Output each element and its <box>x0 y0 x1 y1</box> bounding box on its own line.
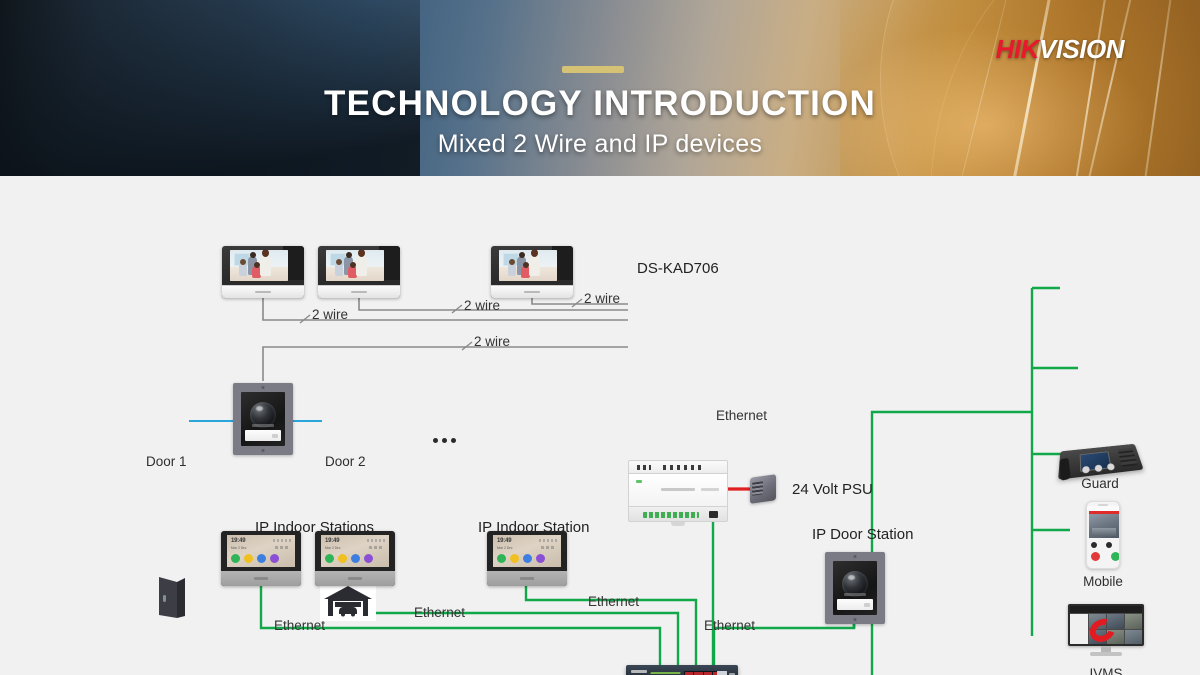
app-icon-monitor <box>257 554 266 563</box>
psu-connector-icon <box>750 476 776 502</box>
slide-header: HIKVISION TECHNOLOGY INTRODUCTION Mixed … <box>0 0 1200 176</box>
kad706-terminal-group-a <box>637 465 651 470</box>
ethernet-label: Ethernet <box>588 594 639 609</box>
ethernet-label: Ethernet <box>414 605 465 620</box>
guard-station-body <box>1058 444 1144 480</box>
ipstation-screen: 19:49 Mon 2 Dec <box>227 535 295 567</box>
wire-label-2wire: 2 wire <box>474 334 510 349</box>
two-wire-door-station[interactable] <box>233 383 293 455</box>
monitor-base <box>222 285 304 298</box>
leader-tick <box>572 299 582 307</box>
guard-button <box>1082 466 1090 474</box>
guard-keypad <box>1118 448 1138 467</box>
logo-vision-text: VISION <box>1039 34 1124 64</box>
leader-tick <box>452 305 462 313</box>
title-accent-bar <box>562 66 624 73</box>
ipstation-clock-sub: Mon 2 Dec <box>325 546 340 550</box>
app-icon-unlock <box>510 554 519 563</box>
hikvision-logo: HIKVISION <box>996 34 1124 65</box>
screen-person-mom <box>356 254 367 276</box>
monitor-body <box>318 246 400 298</box>
door-open-icon <box>155 574 189 620</box>
mobile-hangup-icon <box>1091 552 1100 561</box>
ipstation-menu-dots <box>541 546 555 549</box>
app-icon-monitor <box>523 554 532 563</box>
ds-kad706-module[interactable] <box>628 460 728 522</box>
ipstation-base <box>487 571 567 586</box>
garage-svg <box>322 583 374 619</box>
network-switch[interactable] <box>626 665 738 675</box>
kad706-green-terminals <box>643 512 699 518</box>
garage-icon <box>320 581 376 621</box>
mobile-call-buttons <box>1091 552 1120 561</box>
mobile-video-preview <box>1089 514 1119 538</box>
ip-door-station[interactable] <box>825 552 885 624</box>
screen-person-boy <box>239 263 247 276</box>
door-station-brand <box>844 593 866 596</box>
ellipsis-icon <box>433 438 456 443</box>
app-icon-settings <box>270 554 279 563</box>
monitor-screen <box>230 250 288 281</box>
ethernet-switch-to-trunk <box>738 412 1032 675</box>
ivms-video-cell <box>1125 630 1142 645</box>
ipstation-status-dots <box>273 539 291 542</box>
screen-person-boy <box>508 263 516 276</box>
ellipsis-dot <box>451 438 456 443</box>
diagram-canvas: 2 wire 2 wire 2 wire 2 wire DS-KAD706 <box>0 176 1200 675</box>
ipstation-body: 19:49 Mon 2 Dec <box>221 531 301 586</box>
psu-terminal-slots <box>752 481 763 496</box>
door1-label: Door 1 <box>146 454 187 469</box>
switch-uplink-port <box>717 671 727 675</box>
monitor-body <box>491 246 573 298</box>
app-icon-call <box>497 554 506 563</box>
ipstation-app-row <box>497 554 545 563</box>
app-icon-call <box>325 554 334 563</box>
switch-brand <box>631 670 647 673</box>
kad706-face <box>628 474 728 506</box>
ipstation-status-dots <box>539 539 557 542</box>
logo-hik-text: HIK <box>996 34 1039 64</box>
door-station-face <box>241 392 285 446</box>
app-icon-unlock <box>244 554 253 563</box>
wire-label-2wire: 2 wire <box>464 298 500 313</box>
screen-person-mom <box>529 254 540 276</box>
door-station-frame <box>233 383 293 455</box>
kad706-rj45-port <box>709 511 718 518</box>
wire-label-2wire: 2 wire <box>584 291 620 306</box>
ipstation-clock: 19:49 <box>231 538 245 544</box>
guard-station[interactable] <box>1058 431 1142 475</box>
ivms-device-tree <box>1070 614 1088 644</box>
ethernet-label: Ethernet <box>274 618 325 633</box>
kad706-status-led <box>636 480 642 483</box>
monitor-screen <box>499 250 557 281</box>
door-station-screw-bottom <box>262 449 265 452</box>
ipstation-app-row <box>325 554 373 563</box>
ellipsis-dot <box>433 438 438 443</box>
monitor-base <box>318 285 400 298</box>
kad706-top-shell <box>628 460 728 474</box>
ipstation-screen: 19:49 Mon 2 Dec <box>321 535 389 567</box>
kad706-bottom-shell <box>628 506 728 522</box>
ivms-workstation[interactable] <box>1068 604 1144 656</box>
door-station-face <box>833 561 877 615</box>
leader-tick <box>300 315 310 323</box>
ipstation-status-dots <box>367 539 385 542</box>
switch-body <box>626 665 738 675</box>
guard-label: Guard <box>1060 476 1140 491</box>
ipstation-menu-dots <box>275 546 289 549</box>
monitor-body <box>222 246 304 298</box>
two-wire-indoor-monitor[interactable] <box>491 246 573 298</box>
page-title: TECHNOLOGY INTRODUCTION <box>0 84 1200 124</box>
ethernet-label: Ethernet <box>704 618 755 633</box>
app-icon-call <box>231 554 240 563</box>
slide-root: HIKVISION TECHNOLOGY INTRODUCTION Mixed … <box>0 0 1200 675</box>
switch-uplink-ports <box>717 671 727 675</box>
ip-door-station-label: IP Door Station <box>812 526 913 543</box>
ip-indoor-station[interactable]: 19:49 Mon 2 Dec <box>221 531 301 586</box>
ipstation-screen: 19:49 Mon 2 Dec <box>493 535 561 567</box>
ipstation-clock-sub: Mon 2 Dec <box>497 546 512 550</box>
door-station-nameplate <box>837 599 873 610</box>
twowire-run-4 <box>263 347 628 381</box>
door-station-frame <box>825 552 885 624</box>
ipstation-app-row <box>231 554 279 563</box>
ipstation-base <box>315 571 395 586</box>
app-icon-settings <box>364 554 373 563</box>
ipstation-menu-dots <box>369 546 383 549</box>
mobile-frame <box>1086 501 1120 569</box>
ivms-label: IVMS <box>1066 666 1146 675</box>
two-wire-indoor-monitor[interactable] <box>222 246 304 298</box>
app-icon-monitor <box>351 554 360 563</box>
monitor-screen <box>326 250 384 281</box>
guard-button <box>1107 463 1115 471</box>
door2-label: Door 2 <box>325 454 366 469</box>
door-station-screw-top <box>262 386 265 389</box>
door-station-screw-top <box>854 555 857 558</box>
ellipsis-dot <box>442 438 447 443</box>
two-wire-indoor-monitor[interactable] <box>318 246 400 298</box>
mobile-control-row <box>1091 542 1112 548</box>
monitor-base <box>491 285 573 298</box>
ivms-monitor-bezel <box>1068 604 1144 646</box>
app-icon-settings <box>536 554 545 563</box>
ethernet-label: Ethernet <box>716 408 767 423</box>
kad706-label: DS-KAD706 <box>637 260 719 277</box>
mobile-label: Mobile <box>1063 574 1143 589</box>
ipstation-clock-sub: Mon 2 Dec <box>231 546 246 550</box>
door-station-screw-bottom <box>854 618 857 621</box>
ipstation-clock: 19:49 <box>497 538 511 544</box>
mobile-answer-icon <box>1111 552 1120 561</box>
mobile-control-icon <box>1106 542 1112 548</box>
mobile-phone[interactable] <box>1086 501 1120 569</box>
screen-person-boy <box>335 263 343 276</box>
ipstation-body: 19:49 Mon 2 Dec <box>315 531 395 586</box>
ipstation-base <box>221 571 301 586</box>
ipstation-clock: 19:49 <box>325 538 339 544</box>
door-station-brand <box>252 424 274 427</box>
screen-person-mom <box>260 254 271 276</box>
door-open-svg <box>155 574 189 620</box>
app-icon-unlock <box>338 554 347 563</box>
leader-tick <box>462 342 472 350</box>
guard-button <box>1095 464 1103 472</box>
kad706-brand-logo <box>661 488 695 491</box>
ip-indoor-station[interactable]: 19:49 Mon 2 Dec <box>487 531 567 586</box>
ip-indoor-station[interactable]: 19:49 Mon 2 Dec <box>315 531 395 586</box>
door-station-nameplate <box>245 430 281 441</box>
kad706-terminal-group-b <box>663 465 703 470</box>
page-subtitle: Mixed 2 Wire and IP devices <box>0 130 1200 159</box>
ivms-toolbar <box>1070 606 1142 613</box>
psu-label: 24 Volt PSU <box>792 481 873 498</box>
ipstation-body: 19:49 Mon 2 Dec <box>487 531 567 586</box>
kad706-din-clip <box>671 522 685 526</box>
mobile-control-icon <box>1091 542 1097 548</box>
ivms-monitor-stand <box>1090 652 1122 656</box>
kad706-model-tag <box>701 488 719 491</box>
ivms-video-cell <box>1125 614 1142 629</box>
wire-label-2wire: 2 wire <box>312 307 348 322</box>
